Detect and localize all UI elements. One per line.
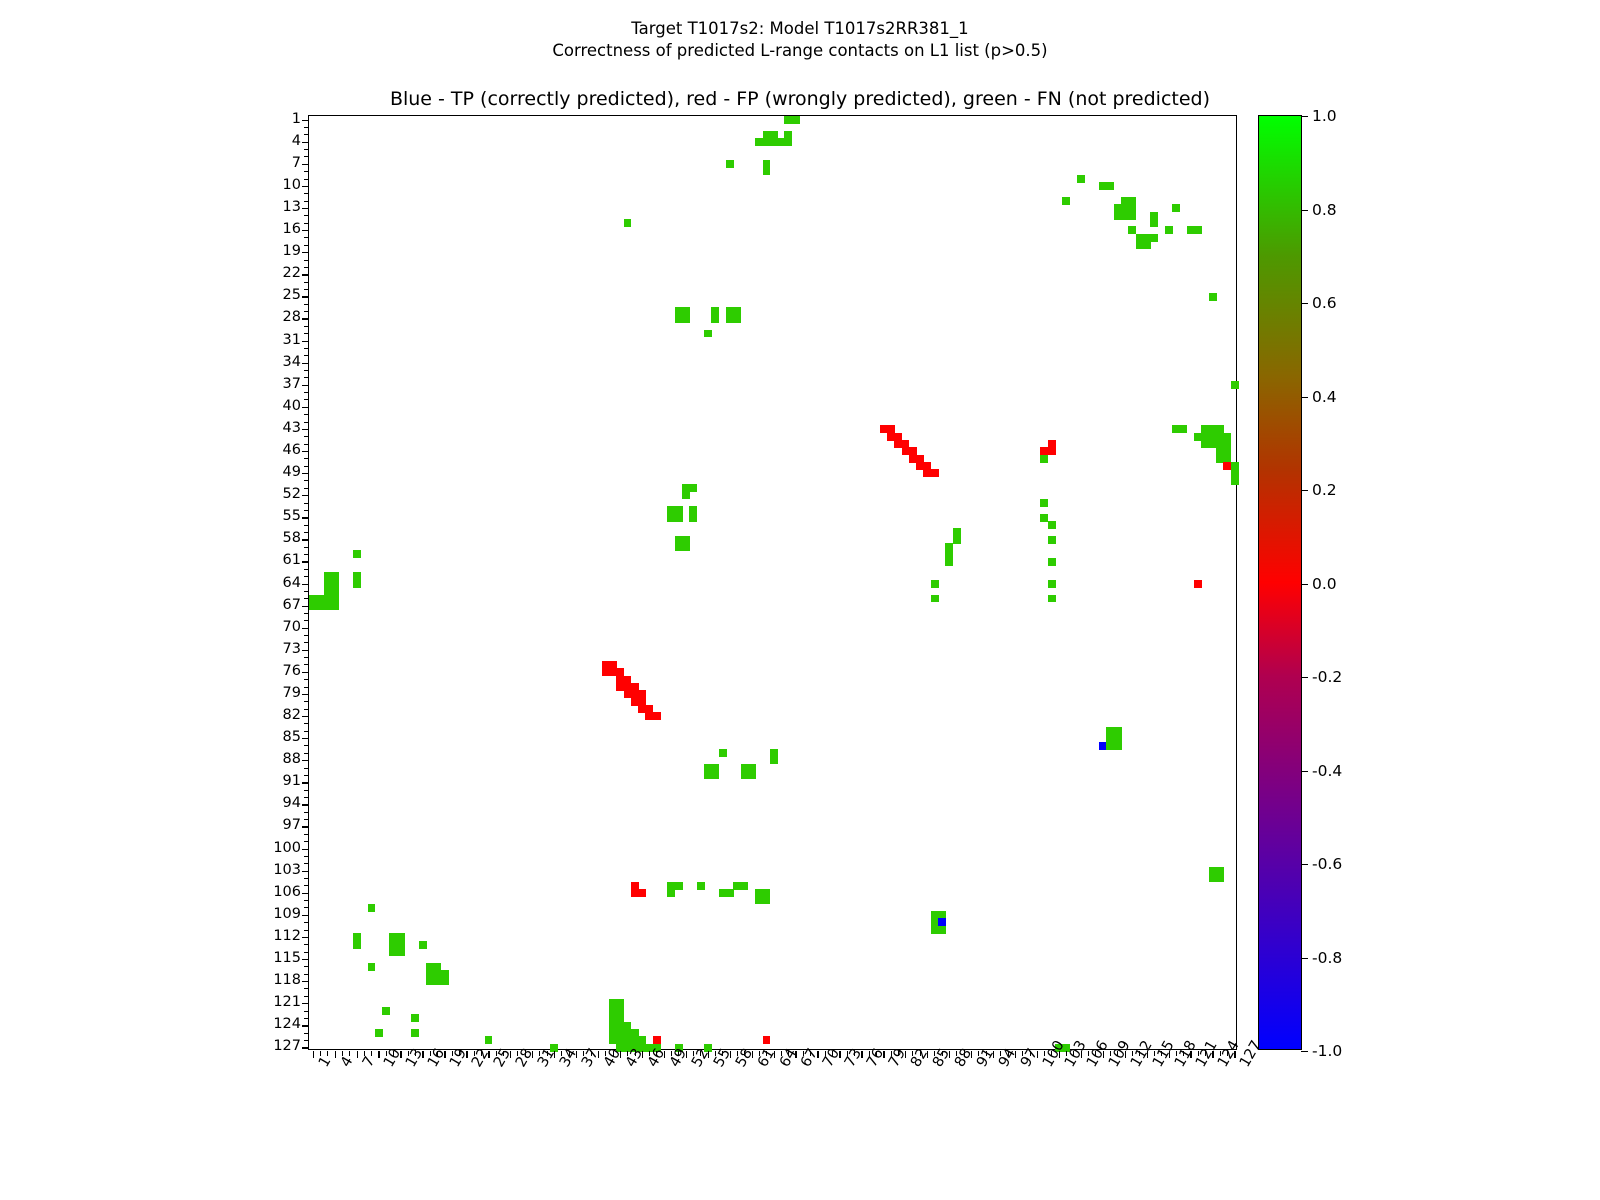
x-axis-minor-tick [854, 1051, 855, 1056]
x-axis-minor-tick [627, 1051, 628, 1056]
contact-map-axes: 1471013161922252831343740434649525558616… [308, 115, 1237, 1050]
x-axis-minor-tick [964, 1051, 965, 1056]
x-axis-major-tick [1103, 1051, 1104, 1058]
x-axis-major-tick [1037, 1051, 1038, 1058]
x-axis-major-tick [839, 1051, 840, 1058]
x-axis-tick-label: 37 [579, 1046, 602, 1070]
x-axis-minor-tick [1051, 1051, 1052, 1056]
x-axis-minor-tick [693, 1051, 694, 1056]
x-axis-tick-label: 67 [798, 1046, 821, 1070]
x-axis-minor-tick [1022, 1051, 1023, 1056]
x-axis-major-tick [422, 1051, 423, 1058]
x-axis-minor-tick [539, 1051, 540, 1056]
y-axis-major-tick [302, 451, 309, 452]
x-axis-major-tick [1169, 1051, 1170, 1058]
x-axis-ticks: 1471013161922252831343740434649525558616… [309, 116, 1236, 1049]
y-axis-major-tick [302, 1047, 309, 1048]
x-axis-major-tick [532, 1051, 533, 1058]
x-axis-minor-tick [1088, 1051, 1089, 1056]
x-axis-minor-tick [474, 1051, 475, 1056]
y-axis-tick-label: 37 [241, 376, 301, 392]
x-axis-tick-label: 16 [425, 1046, 448, 1070]
x-axis-major-tick [993, 1051, 994, 1058]
y-axis-major-tick [302, 782, 309, 783]
chart-title-line-1: Target T1017s2: Model T1017s2RR381_1 [0, 18, 1600, 40]
x-axis-minor-tick [649, 1051, 650, 1056]
y-axis-tick-label: 70 [241, 619, 301, 635]
x-axis-minor-tick [788, 1051, 789, 1056]
y-axis-major-tick [302, 473, 309, 474]
x-axis-major-tick [730, 1051, 731, 1058]
colorbar-tick-label: 0.6 [1312, 294, 1337, 312]
y-axis-tick-label: 85 [241, 729, 301, 745]
y-axis-tick-label: 100 [241, 840, 301, 856]
y-axis-tick-label: 58 [241, 530, 301, 546]
x-axis-tick-label: 4 [338, 1054, 356, 1070]
x-axis-major-tick [971, 1051, 972, 1058]
y-axis-tick-label: 46 [241, 442, 301, 458]
x-axis-minor-tick [656, 1051, 657, 1056]
x-axis-major-tick [774, 1051, 775, 1058]
y-axis-major-tick [302, 296, 309, 297]
x-axis-major-tick [1190, 1051, 1191, 1058]
y-axis-major-tick [302, 628, 309, 629]
colorbar-tick [1301, 116, 1308, 117]
y-axis-tick-label: 61 [241, 552, 301, 568]
x-axis-tick-label: 7 [360, 1054, 378, 1070]
x-axis-minor-tick [1008, 1051, 1009, 1056]
x-axis-minor-tick [722, 1051, 723, 1056]
x-axis-tick-label: 34 [557, 1046, 580, 1070]
x-axis-tick-label: 58 [733, 1046, 756, 1070]
y-axis-tick-label: 121 [241, 994, 301, 1010]
colorbar-tick [1301, 303, 1308, 304]
x-axis-minor-tick [978, 1051, 979, 1056]
y-axis-major-tick [302, 849, 309, 850]
x-axis-major-tick [1059, 1051, 1060, 1058]
x-axis-minor-tick [912, 1051, 913, 1056]
x-axis-minor-tick [349, 1051, 350, 1056]
colorbar: -1.0-0.8-0.6-0.4-0.20.00.20.40.60.81.0 [1258, 115, 1302, 1050]
y-axis-tick-label: 91 [241, 773, 301, 789]
x-axis-minor-tick [1066, 1051, 1067, 1056]
y-axis-tick-label: 25 [241, 287, 301, 303]
x-axis-minor-tick [1030, 1051, 1031, 1056]
y-axis-tick-label: 22 [241, 265, 301, 281]
x-axis-major-tick [1147, 1051, 1148, 1058]
y-axis-major-tick [302, 429, 309, 430]
x-axis-tick-label: 97 [1018, 1046, 1041, 1070]
x-axis-major-tick [861, 1051, 862, 1058]
colorbar-tick [1301, 1051, 1308, 1052]
x-axis-minor-tick [364, 1051, 365, 1056]
y-axis-tick-label: 55 [241, 508, 301, 524]
y-axis-tick-label: 7 [241, 155, 301, 171]
y-axis-major-tick [302, 318, 309, 319]
x-axis-minor-tick [517, 1051, 518, 1056]
chart-title-block: Target T1017s2: Model T1017s2RR381_1 Cor… [0, 18, 1600, 62]
x-axis-minor-tick [320, 1051, 321, 1056]
y-axis-major-tick [302, 164, 309, 165]
x-axis-minor-tick [898, 1051, 899, 1056]
y-axis-tick-label: 31 [241, 332, 301, 348]
x-axis-major-tick [510, 1051, 511, 1058]
x-axis-major-tick [1081, 1051, 1082, 1058]
x-axis-minor-tick [437, 1051, 438, 1056]
x-axis-tick-label: 25 [491, 1046, 514, 1070]
x-axis-major-tick [1015, 1051, 1016, 1058]
x-axis-minor-tick [430, 1051, 431, 1056]
x-axis-major-tick [598, 1051, 599, 1058]
x-axis-minor-tick [715, 1051, 716, 1056]
x-axis-major-tick [1125, 1051, 1126, 1058]
y-axis-tick-label: 109 [241, 906, 301, 922]
x-axis-tick-label: 73 [842, 1046, 865, 1070]
colorbar-tick [1301, 210, 1308, 211]
y-axis-major-tick [302, 584, 309, 585]
x-axis-minor-tick [891, 1051, 892, 1056]
colorbar-tick [1301, 397, 1308, 398]
y-axis-tick-label: 94 [241, 795, 301, 811]
x-axis-major-tick [466, 1051, 467, 1058]
x-axis-minor-tick [1176, 1051, 1177, 1056]
colorbar-tick-label: 0.0 [1312, 575, 1337, 593]
colorbar-tick-label: -0.8 [1312, 949, 1342, 967]
x-axis-minor-tick [547, 1051, 548, 1056]
x-axis-major-tick [620, 1051, 621, 1058]
x-axis-minor-tick [876, 1051, 877, 1056]
x-axis-minor-tick [561, 1051, 562, 1056]
x-axis-major-tick [313, 1051, 314, 1058]
y-axis-major-tick [302, 694, 309, 695]
x-axis-minor-tick [678, 1051, 679, 1056]
y-axis-major-tick [302, 230, 309, 231]
x-axis-minor-tick [869, 1051, 870, 1056]
y-axis-major-tick [302, 738, 309, 739]
y-axis-major-tick [302, 959, 309, 960]
colorbar-tick [1301, 864, 1308, 865]
x-axis-minor-tick [759, 1051, 760, 1056]
x-axis-major-tick [795, 1051, 796, 1058]
x-axis-minor-tick [605, 1051, 606, 1056]
colorbar-tick [1301, 584, 1308, 585]
x-axis-minor-tick [525, 1051, 526, 1056]
x-axis-minor-tick [803, 1051, 804, 1056]
y-axis-major-tick [302, 1025, 309, 1026]
y-axis-tick-label: 97 [241, 817, 301, 833]
y-axis-tick-label: 106 [241, 884, 301, 900]
x-axis-major-tick [488, 1051, 489, 1058]
x-axis-minor-tick [986, 1051, 987, 1056]
y-axis-tick-label: 115 [241, 950, 301, 966]
x-axis-minor-tick [496, 1051, 497, 1056]
y-axis-tick-label: 88 [241, 751, 301, 767]
x-axis-major-tick [378, 1051, 379, 1058]
x-axis-minor-tick [393, 1051, 394, 1056]
x-axis-tick-label: 22 [469, 1046, 492, 1070]
colorbar-tick [1301, 490, 1308, 491]
x-axis-minor-tick [781, 1051, 782, 1056]
x-axis-minor-tick [1095, 1051, 1096, 1056]
x-axis-minor-tick [737, 1051, 738, 1056]
x-axis-tick-label: 85 [930, 1046, 953, 1070]
x-axis-major-tick [1212, 1051, 1213, 1058]
x-axis-tick-label: 79 [886, 1046, 909, 1070]
colorbar-tick-label: -1.0 [1312, 1042, 1342, 1060]
y-axis-major-tick [302, 142, 309, 143]
x-axis-major-tick [708, 1051, 709, 1058]
y-axis-major-tick [302, 341, 309, 342]
y-axis-major-tick [302, 981, 309, 982]
x-axis-minor-tick [1044, 1051, 1045, 1056]
x-axis-minor-tick [327, 1051, 328, 1056]
x-axis-major-tick [1234, 1051, 1235, 1058]
colorbar-ticks: -1.0-0.8-0.6-0.4-0.20.00.20.40.60.81.0 [1259, 116, 1301, 1049]
x-axis-major-tick [686, 1051, 687, 1058]
x-axis-major-tick [664, 1051, 665, 1058]
x-axis-minor-tick [1000, 1051, 1001, 1056]
x-axis-major-tick [905, 1051, 906, 1058]
y-axis-tick-label: 64 [241, 575, 301, 591]
y-axis-major-tick [302, 495, 309, 496]
y-axis-major-tick [302, 1003, 309, 1004]
y-axis-tick-label: 28 [241, 309, 301, 325]
y-axis-major-tick [302, 252, 309, 253]
x-axis-tick-label: 55 [711, 1046, 734, 1070]
x-axis-minor-tick [1117, 1051, 1118, 1056]
colorbar-tick [1301, 677, 1308, 678]
x-axis-tick-label: 49 [667, 1046, 690, 1070]
x-axis-major-tick [576, 1051, 577, 1058]
y-axis-tick-label: 118 [241, 972, 301, 988]
x-axis-minor-tick [459, 1051, 460, 1056]
y-axis-tick-label: 73 [241, 641, 301, 657]
x-axis-minor-tick [386, 1051, 387, 1056]
x-axis-minor-tick [1220, 1051, 1221, 1056]
y-axis-major-tick [302, 274, 309, 275]
y-axis-tick-label: 10 [241, 177, 301, 193]
x-axis-minor-tick [452, 1051, 453, 1056]
colorbar-tick-label: 0.2 [1312, 481, 1337, 499]
y-axis-tick-label: 4 [241, 133, 301, 149]
y-axis-major-tick [302, 716, 309, 717]
x-axis-major-tick [400, 1051, 401, 1058]
x-axis-minor-tick [671, 1051, 672, 1056]
y-axis-tick-label: 16 [241, 221, 301, 237]
x-axis-major-tick [444, 1051, 445, 1058]
x-axis-major-tick [817, 1051, 818, 1058]
x-axis-major-tick [554, 1051, 555, 1058]
y-axis-major-tick [302, 871, 309, 872]
colorbar-tick-label: -0.2 [1312, 668, 1342, 686]
x-axis-minor-tick [1183, 1051, 1184, 1056]
x-axis-tick-label: 13 [403, 1046, 426, 1070]
y-axis-major-tick [302, 385, 309, 386]
colorbar-tick-label: -0.6 [1312, 855, 1342, 873]
y-axis-major-tick [302, 606, 309, 607]
colorbar-tick-label: -0.4 [1312, 762, 1342, 780]
x-axis-minor-tick [934, 1051, 935, 1056]
x-axis-tick-label: 64 [777, 1046, 800, 1070]
x-axis-minor-tick [1073, 1051, 1074, 1056]
y-axis-major-tick [302, 120, 309, 121]
y-axis-tick-label: 40 [241, 398, 301, 414]
colorbar-tick-label: 0.4 [1312, 388, 1337, 406]
x-axis-minor-tick [1227, 1051, 1228, 1056]
x-axis-minor-tick [613, 1051, 614, 1056]
y-axis-tick-label: 43 [241, 420, 301, 436]
x-axis-minor-tick [956, 1051, 957, 1056]
x-axis-minor-tick [825, 1051, 826, 1056]
y-axis-tick-label: 103 [241, 862, 301, 878]
x-axis-minor-tick [635, 1051, 636, 1056]
x-axis-major-tick [949, 1051, 950, 1058]
chart-title-line-2: Correctness of predicted L-range contact… [0, 40, 1600, 62]
y-axis-tick-label: 82 [241, 707, 301, 723]
y-axis-major-tick [302, 937, 309, 938]
colorbar-tick-label: 1.0 [1312, 107, 1337, 125]
y-axis-tick-label: 124 [241, 1016, 301, 1032]
colorbar-tick [1301, 958, 1308, 959]
x-axis-tick-label: 1 [316, 1054, 334, 1070]
x-axis-tick-label: 76 [864, 1046, 887, 1070]
x-axis-minor-tick [700, 1051, 701, 1056]
x-axis-major-tick [357, 1051, 358, 1058]
x-axis-tick-label: 94 [996, 1046, 1019, 1070]
y-axis-tick-label: 34 [241, 354, 301, 370]
colorbar-tick-label: 0.8 [1312, 201, 1337, 219]
x-axis-major-tick [335, 1051, 336, 1058]
x-axis-minor-tick [583, 1051, 584, 1056]
y-axis-major-tick [302, 672, 309, 673]
x-axis-minor-tick [766, 1051, 767, 1056]
x-axis-minor-tick [1110, 1051, 1111, 1056]
x-axis-minor-tick [408, 1051, 409, 1056]
x-axis-tick-label: 88 [952, 1046, 975, 1070]
x-axis-minor-tick [503, 1051, 504, 1056]
x-axis-major-tick [752, 1051, 753, 1058]
y-axis-major-tick [302, 760, 309, 761]
x-axis-minor-tick [810, 1051, 811, 1056]
y-axis-major-tick [302, 539, 309, 540]
y-axis-major-tick [302, 804, 309, 805]
y-axis-tick-label: 49 [241, 464, 301, 480]
x-axis-tick-label: 91 [974, 1046, 997, 1070]
x-axis-minor-tick [942, 1051, 943, 1056]
y-axis-major-tick [302, 517, 309, 518]
y-axis-tick-label: 13 [241, 199, 301, 215]
x-axis-minor-tick [591, 1051, 592, 1056]
y-axis-major-tick [302, 363, 309, 364]
y-axis-major-tick [302, 561, 309, 562]
x-axis-minor-tick [1154, 1051, 1155, 1056]
x-axis-minor-tick [1139, 1051, 1140, 1056]
x-axis-minor-tick [342, 1051, 343, 1056]
x-axis-minor-tick [1205, 1051, 1206, 1056]
x-axis-minor-tick [847, 1051, 848, 1056]
y-axis-tick-label: 112 [241, 928, 301, 944]
x-axis-minor-tick [832, 1051, 833, 1056]
y-axis-tick-label: 76 [241, 663, 301, 679]
y-axis-tick-label: 127 [241, 1038, 301, 1054]
y-axis-tick-label: 52 [241, 486, 301, 502]
y-axis-tick-label: 67 [241, 597, 301, 613]
x-axis-tick-label: 82 [908, 1046, 931, 1070]
x-axis-minor-tick [569, 1051, 570, 1056]
y-axis-major-tick [302, 650, 309, 651]
x-axis-major-tick [883, 1051, 884, 1058]
x-axis-tick-label: 19 [447, 1046, 470, 1070]
x-axis-minor-tick [744, 1051, 745, 1056]
x-axis-tick-label: 28 [513, 1046, 536, 1070]
x-axis-tick-label: 61 [755, 1046, 778, 1070]
x-axis-minor-tick [920, 1051, 921, 1056]
x-axis-minor-tick [481, 1051, 482, 1056]
y-axis-tick-label: 79 [241, 685, 301, 701]
y-axis-major-tick [302, 186, 309, 187]
y-axis-major-tick [302, 893, 309, 894]
y-axis-major-tick [302, 826, 309, 827]
x-axis-tick-label: 70 [820, 1046, 843, 1070]
x-axis-major-tick [642, 1051, 643, 1058]
x-axis-major-tick [927, 1051, 928, 1058]
y-axis-major-tick [302, 407, 309, 408]
colorbar-tick [1301, 771, 1308, 772]
y-axis-major-tick [302, 915, 309, 916]
chart-legend-caption: Blue - TP (correctly predicted), red - F… [0, 88, 1600, 110]
y-axis-major-tick [302, 208, 309, 209]
x-axis-minor-tick [371, 1051, 372, 1056]
x-axis-minor-tick [1198, 1051, 1199, 1056]
x-axis-tick-label: 10 [381, 1046, 404, 1070]
x-axis-minor-tick [415, 1051, 416, 1056]
x-axis-minor-tick [1132, 1051, 1133, 1056]
x-axis-minor-tick [1161, 1051, 1162, 1056]
y-axis-tick-label: 19 [241, 243, 301, 259]
y-axis-tick-label: 1 [241, 111, 301, 127]
